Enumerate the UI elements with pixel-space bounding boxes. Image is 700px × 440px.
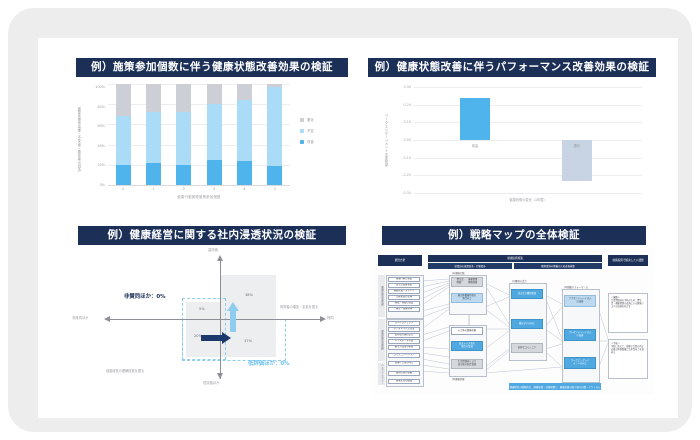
node-left-10: ハラスメント対策 xyxy=(388,339,420,344)
legend-swatch-icon xyxy=(300,140,304,144)
device-frame: 例）施策参加個数に伴う健康状態改善効果の検証 健康状態改善者・不変者・悪化者の割… xyxy=(8,8,692,432)
bar-segment-fuhen xyxy=(267,87,282,166)
quadrant-value-upper-left: 5% xyxy=(199,307,205,311)
y-tick: -0.30 xyxy=(402,191,411,195)
y-tick: -0.10 xyxy=(402,156,411,160)
panel-internal-penetration: 例）健康経営に関する社内浸透状況の検証 xyxy=(68,226,358,398)
header-issues-to-solve: 健康投資で解決したい課題 xyxy=(608,255,648,266)
gridline xyxy=(414,122,642,123)
panel-4-body: 経営方針 健康投資施策 健康投資で解決したい課題 従業員の意識改革・行動変容 職… xyxy=(368,245,658,398)
x-tick: 1 xyxy=(146,187,161,191)
chart1-bars xyxy=(108,84,290,185)
note-low-rating: 低評価ほか：0% xyxy=(248,359,290,367)
panel-1-body: 健康状態改善者・不変者・悪化者の割合 100% 80% 60% 40% 20% … xyxy=(68,77,358,218)
node-left-11: 働き方改革の推進 xyxy=(388,345,420,350)
bar-segment-akka xyxy=(146,84,161,112)
panel-performance-improvement: 例）健康状態改善に伴うパフォーマンス改善効果の検証 ワークエンゲージメントの変化… xyxy=(368,58,658,218)
y-tick: 20% xyxy=(97,163,105,167)
chart1-y-ticks: 100% 80% 60% 40% 20% 0% xyxy=(84,84,106,188)
panel-strategy-map: 例）戦略マップの全体検証 xyxy=(368,226,658,398)
callout-left: 健康経営の理解促進を図る xyxy=(106,369,144,373)
bar-group xyxy=(176,84,191,185)
bar-kaizen xyxy=(460,98,490,140)
node-left-7: ストレスチェック xyxy=(388,321,420,326)
chart2-y-ticks: 0.30 0.20 0.10 0.00 -0.10 -0.20 -0.30 xyxy=(390,87,412,193)
quadrant-value-lower-right: 37% xyxy=(244,339,252,343)
chart2-plot-area: 改善 悪化 xyxy=(414,87,642,193)
band-behavior-change: 従業員の意識改革・行動変容 xyxy=(428,263,512,269)
chart1-legend: 悪化 不変 改善 xyxy=(300,117,352,150)
node-left-9: 長時間労働の是正 xyxy=(388,333,420,338)
y-tick: 0.30 xyxy=(403,85,411,89)
memo-future: ＜今後＞予防に加えて、治療と仕事の両立支援の体制整備と生産性向上を進める xyxy=(608,339,648,379)
bar-segment-akka xyxy=(116,84,131,116)
legend-swatch-icon xyxy=(300,129,304,133)
callout-right: 賛同者の増加・定着を図る xyxy=(280,305,318,309)
panel-2-body: ワークエンゲージメントの変化量 0.30 0.20 0.10 0.00 -0.1… xyxy=(368,77,658,218)
header-management-policy: 経営方針 xyxy=(378,255,422,266)
bar-segment-fuhen xyxy=(176,112,191,165)
axis-arrow-left-icon xyxy=(104,316,110,322)
footer-summary: 健康経営の戦略的な、健康投資・効果指標と、健康投資の取り組み目標・アウトカム xyxy=(509,383,601,390)
bar-label-kaizen: 改善 xyxy=(455,143,495,148)
bar-group xyxy=(207,84,222,185)
node-hb-2: 適正体重維持者の割合向上 xyxy=(451,293,483,303)
axis-label-right: 賛同 xyxy=(327,315,334,320)
bar-segment-kaizen xyxy=(267,166,282,185)
legend-label: 改善 xyxy=(307,139,314,144)
axis-label-top: 高評価 xyxy=(208,247,218,252)
axis-arrow-down-icon xyxy=(217,373,223,379)
gridline-zero xyxy=(414,140,642,141)
arrow-up-icon xyxy=(226,302,240,332)
panel-2-title: 例）健康状態改善に伴うパフォーマンス改善効果の検証 xyxy=(368,58,656,77)
x-tick: 3 xyxy=(207,187,222,191)
axis-horizontal xyxy=(110,319,322,320)
quadrant-matrix-chart: 高評価 低評価ほか 非賛同ほか 賛同 38% 5% 20% 37% xyxy=(68,247,358,397)
node-wv-1: 活き活き職場環境 xyxy=(511,289,543,299)
note-non-agreement: 非賛同ほか：0% xyxy=(124,292,166,300)
y-tick: 0% xyxy=(100,183,105,187)
bar-segment-akka xyxy=(207,84,222,104)
legend-label: 不変 xyxy=(307,128,314,133)
axis-label-left: 非賛同ほか xyxy=(72,315,88,320)
bar-group xyxy=(237,84,252,185)
group-label-health-status: (b)健康状態 xyxy=(452,377,464,381)
bar-segment-kaizen xyxy=(207,160,222,185)
legend-label: 悪化 xyxy=(307,117,314,122)
bar-segment-kaizen xyxy=(116,165,131,185)
node-left-15: 健康文化の醸成 xyxy=(388,379,420,384)
node-left-14: 職場環境の整備 xyxy=(388,371,420,376)
diverging-bar-chart: ワークエンゲージメントの変化量 0.30 0.20 0.10 0.00 -0.1… xyxy=(368,81,658,211)
gridline xyxy=(414,105,642,106)
axis-label-bottom: 低評価ほか xyxy=(203,380,219,385)
bar-segment-kaizen xyxy=(237,161,252,185)
side-label-health-literacy: ヘルスリテラシー xyxy=(378,363,385,385)
legend-item-fuhen: 不変 xyxy=(300,128,352,133)
y-tick: 80% xyxy=(97,105,105,109)
bar-segment-akka xyxy=(237,84,252,100)
memo-issue: ＜課題＞生活習慣病の予防のため、食生活・運動習慣の改善による健康リスクの低減をめ… xyxy=(608,293,648,333)
chart1-x-axis-label: 健康行動実践施策参加個数 xyxy=(108,194,290,199)
node-left-4: 禁煙支援の実施 xyxy=(388,295,420,300)
y-tick: 100% xyxy=(95,85,105,89)
gridline xyxy=(414,158,642,159)
panel-1-title: 例）施策参加個数に伴う健康状態改善効果の検証 xyxy=(76,58,348,77)
node-left-12: コミュニケーション xyxy=(388,353,420,358)
y-tick: 40% xyxy=(97,144,105,148)
node-op-1: アブセンティーイズムの改善 xyxy=(564,295,596,307)
bar-group xyxy=(267,84,282,185)
node-left-2: 食生活改善支援 xyxy=(388,283,420,288)
y-tick: 0.10 xyxy=(403,120,411,124)
chart1-x-ticks: 0 1 2 3 4 5 xyxy=(108,187,290,191)
x-tick: 2 xyxy=(176,187,191,191)
node-left-6: 健診・保健指導 xyxy=(388,307,420,312)
quadrant-value-upper-right: 38% xyxy=(245,293,253,297)
chart1-plot-area xyxy=(108,84,290,186)
x-tick: 0 xyxy=(116,187,131,191)
legend-item-kaizen: 改善 xyxy=(300,139,352,144)
panel-4-title: 例）戦略マップの全体検証 xyxy=(382,226,646,245)
bar-group xyxy=(116,84,131,185)
panel-3-title: 例）健康経営に関する社内浸透状況の検証 xyxy=(78,226,346,245)
bar-segment-kaizen xyxy=(146,163,161,185)
bar-segment-kaizen xyxy=(176,165,191,185)
node-wv-3: 良好なコミュニケ xyxy=(511,343,543,353)
node-left-8: メンタルヘルス対策 xyxy=(388,327,420,332)
strategy-map-diagram: 経営方針 健康投資施策 健康投資で解決したい課題 従業員の意識改革・行動変容 職… xyxy=(372,249,654,395)
gridline xyxy=(414,175,642,176)
axis-arrow-right-icon xyxy=(320,316,326,322)
node-left-3: 運動習慣・スポーツ xyxy=(388,289,420,294)
node-hb-1: 食生活 運動習慣喫煙 睡眠休養 xyxy=(451,277,483,287)
bar-segment-akka xyxy=(176,84,191,112)
legend-item-akka: 悪化 xyxy=(300,117,352,122)
side-label-indicators-2: 健康投資効果指標 xyxy=(378,319,385,361)
node-left-13: 治療と仕事の両立 xyxy=(388,361,420,366)
y-tick: -0.20 xyxy=(402,173,411,177)
node-left-1: 健康行動の支援 xyxy=(388,277,420,282)
chart1-y-axis-label: 健康状態改善者・不変者・悪化者の割合 xyxy=(74,89,83,189)
x-tick: 5 xyxy=(267,187,282,191)
side-label-indicators-1: 健康投資効果指標 xyxy=(378,275,385,317)
node-hs-2: 高ストレス者の割合の低減 xyxy=(451,341,483,351)
axis-arrow-up-icon xyxy=(217,255,223,261)
node-left-5: 睡眠・休養の支援 xyxy=(388,301,420,306)
node-wv-2: 働きがいの向上 xyxy=(511,319,543,329)
y-tick: 60% xyxy=(97,124,105,128)
y-tick: 0.00 xyxy=(403,138,411,142)
bar-segment-fuhen xyxy=(207,104,222,160)
stacked-bar-chart: 健康状態改善者・不変者・悪化者の割合 100% 80% 60% 40% 20% … xyxy=(68,81,358,211)
bar-group xyxy=(146,84,161,185)
panel-3-body: 高評価 低評価ほか 非賛同ほか 賛同 38% 5% 20% 37% xyxy=(68,245,358,398)
node-hs-3: 生活習慣病リスク該当者の割合低減 xyxy=(451,359,483,369)
panel-health-improvement-by-participation: 例）施策参加個数に伴う健康状態改善効果の検証 健康状態改善者・不変者・悪化者の割… xyxy=(68,58,358,218)
bar-segment-fuhen xyxy=(146,112,161,163)
node-op-2: プレゼンティーイズムの改善 xyxy=(564,329,596,341)
gridline xyxy=(414,87,642,88)
node-hs-1: 心と体の健康状態 xyxy=(451,327,483,335)
bar-label-akka: 悪化 xyxy=(557,143,597,148)
node-op-3: ワークエンゲージメントの向上 xyxy=(564,357,596,369)
axis-vertical xyxy=(220,261,221,379)
y-tick: 0.20 xyxy=(403,103,411,107)
chart2-x-axis-label: 健康状態の変化（1年間） xyxy=(414,197,642,202)
bar-segment-fuhen xyxy=(237,100,252,161)
gridline xyxy=(414,193,642,194)
x-tick: 4 xyxy=(237,187,252,191)
bar-segment-fuhen xyxy=(116,116,131,164)
band-workplace-improvement: 職場環境の整備のため改善施策 xyxy=(514,263,602,269)
legend-swatch-icon xyxy=(300,118,304,122)
header-health-investment: 健康投資施策 xyxy=(428,255,602,262)
arrow-right-icon xyxy=(201,331,231,345)
slide-canvas: 例）施策参加個数に伴う健康状態改善効果の検証 健康状態改善者・不変者・悪化者の割… xyxy=(38,38,678,418)
